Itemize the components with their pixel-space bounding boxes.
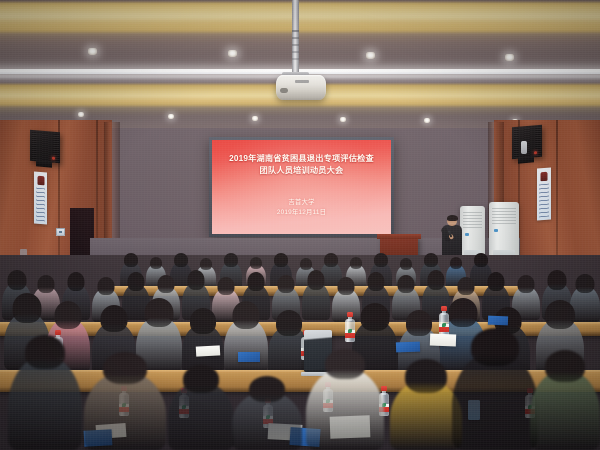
audience-head — [368, 272, 385, 291]
audience-member — [452, 352, 538, 450]
audience-head — [400, 258, 412, 270]
audience-head — [200, 258, 212, 270]
wall-sensor-icon — [521, 141, 527, 154]
audience-head — [278, 275, 295, 293]
audience-member — [306, 368, 384, 450]
banner-portrait-icon — [541, 172, 548, 181]
downlight-icon — [340, 117, 346, 122]
audience-head — [545, 300, 575, 329]
blue-folder — [238, 352, 260, 362]
cove-light-upper-glow — [0, 26, 600, 38]
wall-banner-right — [537, 168, 551, 221]
presenter-hair — [447, 215, 458, 221]
bottle-neck — [442, 311, 446, 315]
audience-head — [424, 253, 438, 267]
audience-head — [324, 253, 338, 267]
audience-member — [530, 370, 600, 450]
speaker-led-icon — [52, 157, 55, 160]
audience-head — [250, 257, 262, 269]
downlight-icon — [88, 48, 97, 55]
projected-slide: 2019年湖南省贫困县退出专项评估检查 团队人员培训动员大会 吉首大学 2019… — [212, 140, 391, 234]
wall-banner-left — [34, 172, 47, 225]
bottle-logo-icon — [348, 329, 352, 333]
slide-title: 2019年湖南省贫困县退出专项评估检查 团队人员培训动员大会 — [212, 153, 391, 176]
audience-head — [449, 298, 478, 327]
speaker-bracket-left — [36, 160, 52, 167]
banner-portrait-icon — [37, 176, 44, 185]
audience-head — [361, 303, 390, 331]
projector-badge — [295, 80, 309, 83]
audience-head — [25, 335, 65, 369]
audience-member — [224, 318, 268, 372]
audience-head — [124, 253, 138, 267]
water-bottle — [344, 312, 355, 342]
audience-head — [450, 257, 462, 269]
downlight-icon — [424, 118, 430, 123]
audience-head — [428, 270, 445, 290]
audience-member — [84, 372, 166, 450]
bottle-neck — [382, 391, 386, 395]
audience-head — [233, 301, 260, 329]
audience-member — [302, 282, 330, 320]
downlight-icon — [78, 112, 84, 117]
downlight-icon — [228, 50, 237, 57]
lectern-top — [377, 234, 421, 239]
audience-head — [98, 277, 115, 295]
audience-head — [13, 293, 42, 323]
audience-head — [150, 257, 162, 269]
bottle-cap — [55, 330, 61, 335]
audience-member — [8, 356, 82, 450]
downlight-icon — [366, 52, 375, 59]
audience-head — [518, 275, 535, 293]
paper-sheet — [430, 334, 456, 347]
audience-head — [374, 253, 388, 267]
banner-text-lines — [36, 188, 45, 222]
audience-head — [68, 272, 85, 291]
lecture-hall-photo: 2019年湖南省贫困县退出专项评估检查 团队人员培训动员大会 吉首大学 2019… — [0, 0, 600, 450]
audience-head — [8, 270, 27, 290]
blue-folder — [488, 316, 508, 326]
blue-folder — [396, 342, 420, 353]
audience-member — [168, 382, 234, 450]
audience-head — [488, 272, 505, 291]
audience-head — [338, 277, 355, 295]
wall-speaker-right — [512, 125, 542, 160]
audience-head — [398, 275, 415, 293]
audience-head — [545, 350, 585, 382]
ac-indicator-icon — [494, 229, 498, 232]
audience-head — [145, 298, 174, 327]
audience-head — [350, 257, 362, 269]
ac-grille — [492, 208, 516, 224]
wall-speaker-left — [30, 130, 60, 164]
audience-head — [188, 270, 205, 290]
bottle-cap — [347, 312, 353, 317]
audience-head — [276, 310, 302, 336]
audience-head — [183, 365, 219, 393]
audience-head — [224, 253, 238, 267]
audience-head — [248, 272, 265, 291]
downlight-icon — [505, 54, 514, 61]
audience-head — [128, 272, 145, 291]
projector-mount-pole — [292, 0, 299, 74]
bottle-cap — [381, 386, 387, 391]
cove-light-lower-glow — [0, 100, 600, 114]
audience-head — [103, 352, 147, 384]
audience-head — [174, 253, 188, 267]
wall-switch-plate[interactable] — [56, 228, 65, 236]
ac-grille — [463, 212, 482, 228]
audience-head — [471, 328, 519, 366]
ceiling — [0, 0, 600, 132]
projection-screen: 2019年湖南省贫困县退出专项评估检查 团队人员培训动员大会 吉首大学 2019… — [209, 137, 394, 237]
audience-head — [458, 277, 475, 295]
audience-head — [406, 310, 432, 336]
water-bottle — [438, 306, 449, 336]
audience-head — [325, 349, 365, 379]
audience-head — [38, 275, 55, 293]
audience-head — [474, 253, 488, 267]
audience-head — [308, 270, 325, 290]
audience-head — [190, 308, 216, 334]
audience-head — [405, 359, 447, 393]
audience-member — [232, 392, 302, 450]
audience-head — [101, 305, 128, 332]
audience-head — [249, 376, 285, 402]
audience-head — [274, 253, 288, 267]
slide-subtitle: 吉首大学 2019年12月11日 — [212, 198, 391, 218]
audience-head — [158, 275, 175, 293]
audience-head — [55, 301, 82, 329]
downlight-icon — [252, 116, 258, 121]
audience-head — [548, 270, 567, 290]
downlight-icon — [168, 114, 174, 119]
ceiling-projector-icon — [276, 75, 326, 100]
banner-text-lines — [539, 184, 549, 218]
bottle-logo-icon — [442, 323, 446, 327]
bottle-neck — [348, 317, 352, 321]
audience-head — [300, 258, 312, 270]
paper-sheet — [196, 345, 220, 356]
audience-head — [576, 274, 595, 293]
bottle-cap — [441, 306, 447, 311]
audience-head — [218, 277, 235, 295]
ac-indicator-icon — [465, 233, 469, 236]
